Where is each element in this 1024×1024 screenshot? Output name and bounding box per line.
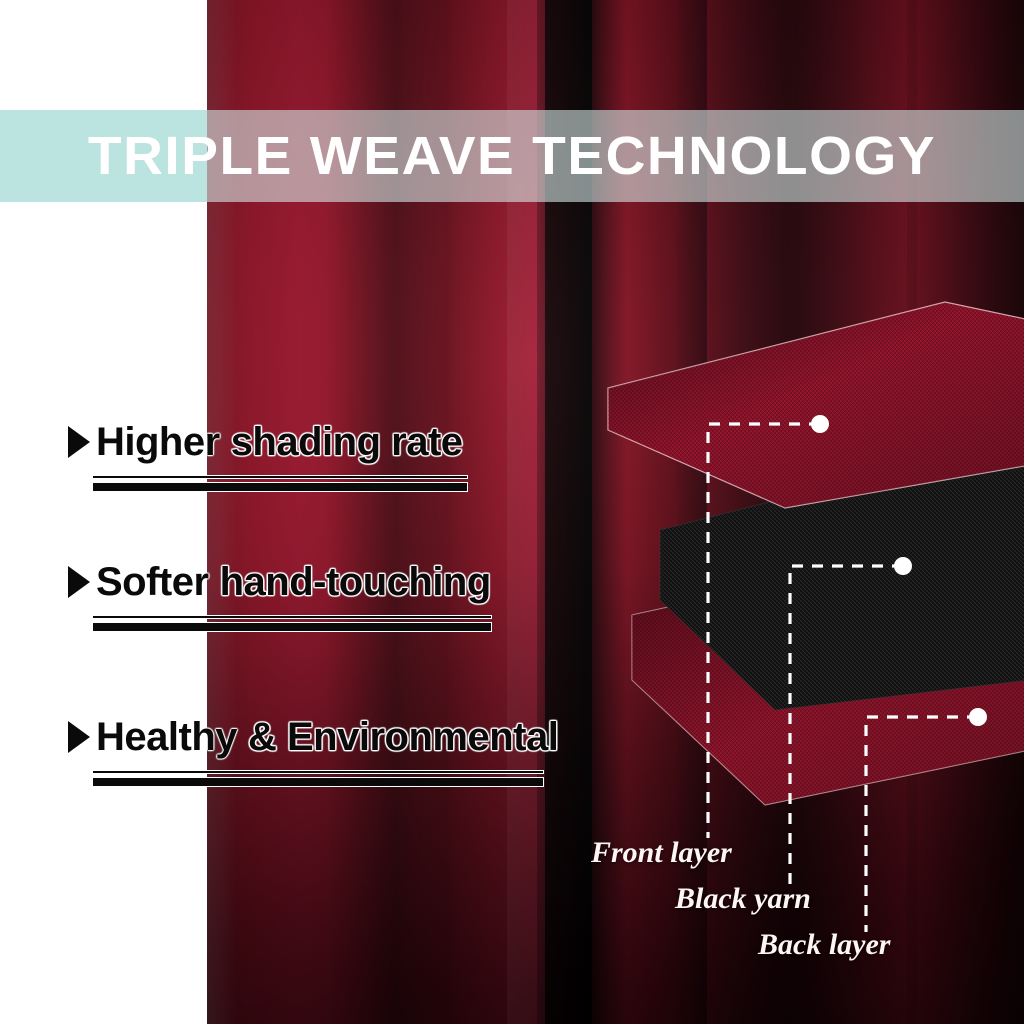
underline-thin xyxy=(92,615,492,619)
play-triangle-icon xyxy=(68,721,90,753)
product-infographic: Front layer Black yarn Back layer TRIPLE… xyxy=(0,0,1024,1024)
underline-thick xyxy=(92,777,544,787)
play-triangle-icon xyxy=(68,566,90,598)
headline-banner: TRIPLE WEAVE TECHNOLOGY xyxy=(0,110,1024,202)
feature-item-softer-hand-touching: Softer hand-touching xyxy=(68,560,508,632)
feature-strong-text: Higher xyxy=(96,420,220,465)
feature-item-higher-shading-rate: Higher shading rate xyxy=(68,420,488,492)
feature-strong-text: Softer xyxy=(96,560,209,605)
feature-underline xyxy=(92,615,492,632)
underline-thick xyxy=(92,622,492,632)
feature-underline xyxy=(92,475,468,492)
diagram-layer-front-layer xyxy=(608,302,1024,508)
underline-thin xyxy=(92,770,544,774)
feature-strong-text: Healthy xyxy=(96,715,237,760)
feature-rest-text: hand-touching xyxy=(220,560,491,605)
underline-thick xyxy=(92,482,468,492)
feature-rest-text: shading rate xyxy=(231,420,463,465)
feature-item-healthy-environmental: Healthy & Environmental xyxy=(68,715,568,787)
feature-underline xyxy=(92,770,544,787)
fabric-layers-diagram xyxy=(560,280,1024,840)
play-triangle-icon xyxy=(68,426,90,458)
underline-thin xyxy=(92,475,468,479)
feature-rest-text: & Environmental xyxy=(248,715,558,760)
banner-title: TRIPLE WEAVE TECHNOLOGY xyxy=(0,110,1024,202)
